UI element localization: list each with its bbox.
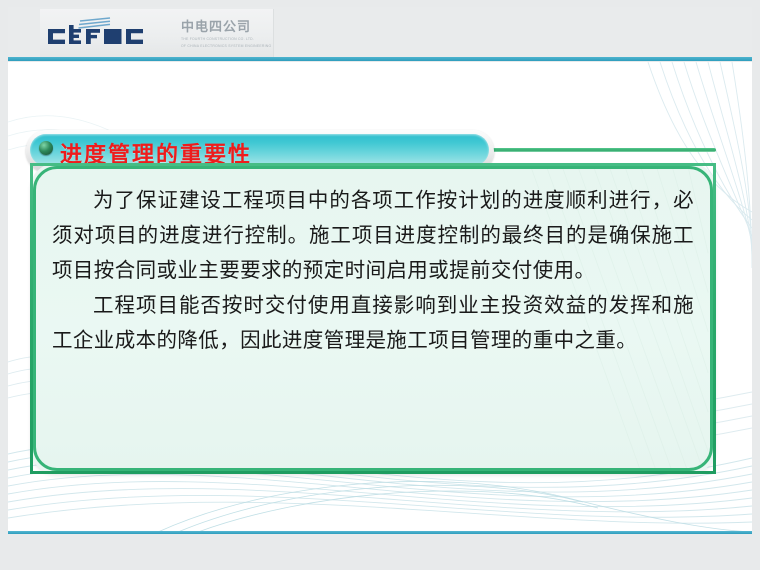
company-logo: 中电四公司 THE FOURTH CONSTRUCTION CO. LTD. O… <box>46 17 271 51</box>
content-panel-inner: 为了保证建设工程项目中的各项工作按计划的进度顺利进行，必须对项目的进度进行控制。… <box>33 166 713 471</box>
slide-footer <box>8 534 752 563</box>
content-panel: 为了保证建设工程项目中的各项工作按计划的进度顺利进行，必须对项目的进度进行控制。… <box>30 163 716 474</box>
logo-company-name-zh: 中电四公司 <box>181 20 271 35</box>
content-paragraph-1: 为了保证建设工程项目中的各项工作按计划的进度顺利进行，必须对项目的进度进行控制。… <box>52 183 694 288</box>
logo-company-name-en-2: OF CHINA ELECTRONICS SYSTEM ENGINEERING <box>181 44 271 49</box>
slide-root: 中电四公司 THE FOURTH CONSTRUCTION CO. LTD. O… <box>0 0 760 570</box>
logo-company-name-en-1: THE FOURTH CONSTRUCTION CO. LTD. <box>181 37 271 42</box>
content-paragraph-2: 工程项目能否按时交付使用直接影响到业主投资效益的发挥和施工企业成本的降低，因此进… <box>52 288 694 358</box>
logo-plate: 中电四公司 THE FOURTH CONSTRUCTION CO. LTD. O… <box>40 9 274 58</box>
logo-company-name: 中电四公司 THE FOURTH CONSTRUCTION CO. LTD. O… <box>181 17 271 49</box>
bullet-sphere-icon <box>39 141 53 155</box>
title-trailing-rule <box>488 148 716 152</box>
header-divider-rule <box>8 57 752 61</box>
cefoc-wordmark-icon <box>46 17 171 51</box>
slide-header: 中电四公司 THE FOURTH CONSTRUCTION CO. LTD. O… <box>8 7 752 59</box>
